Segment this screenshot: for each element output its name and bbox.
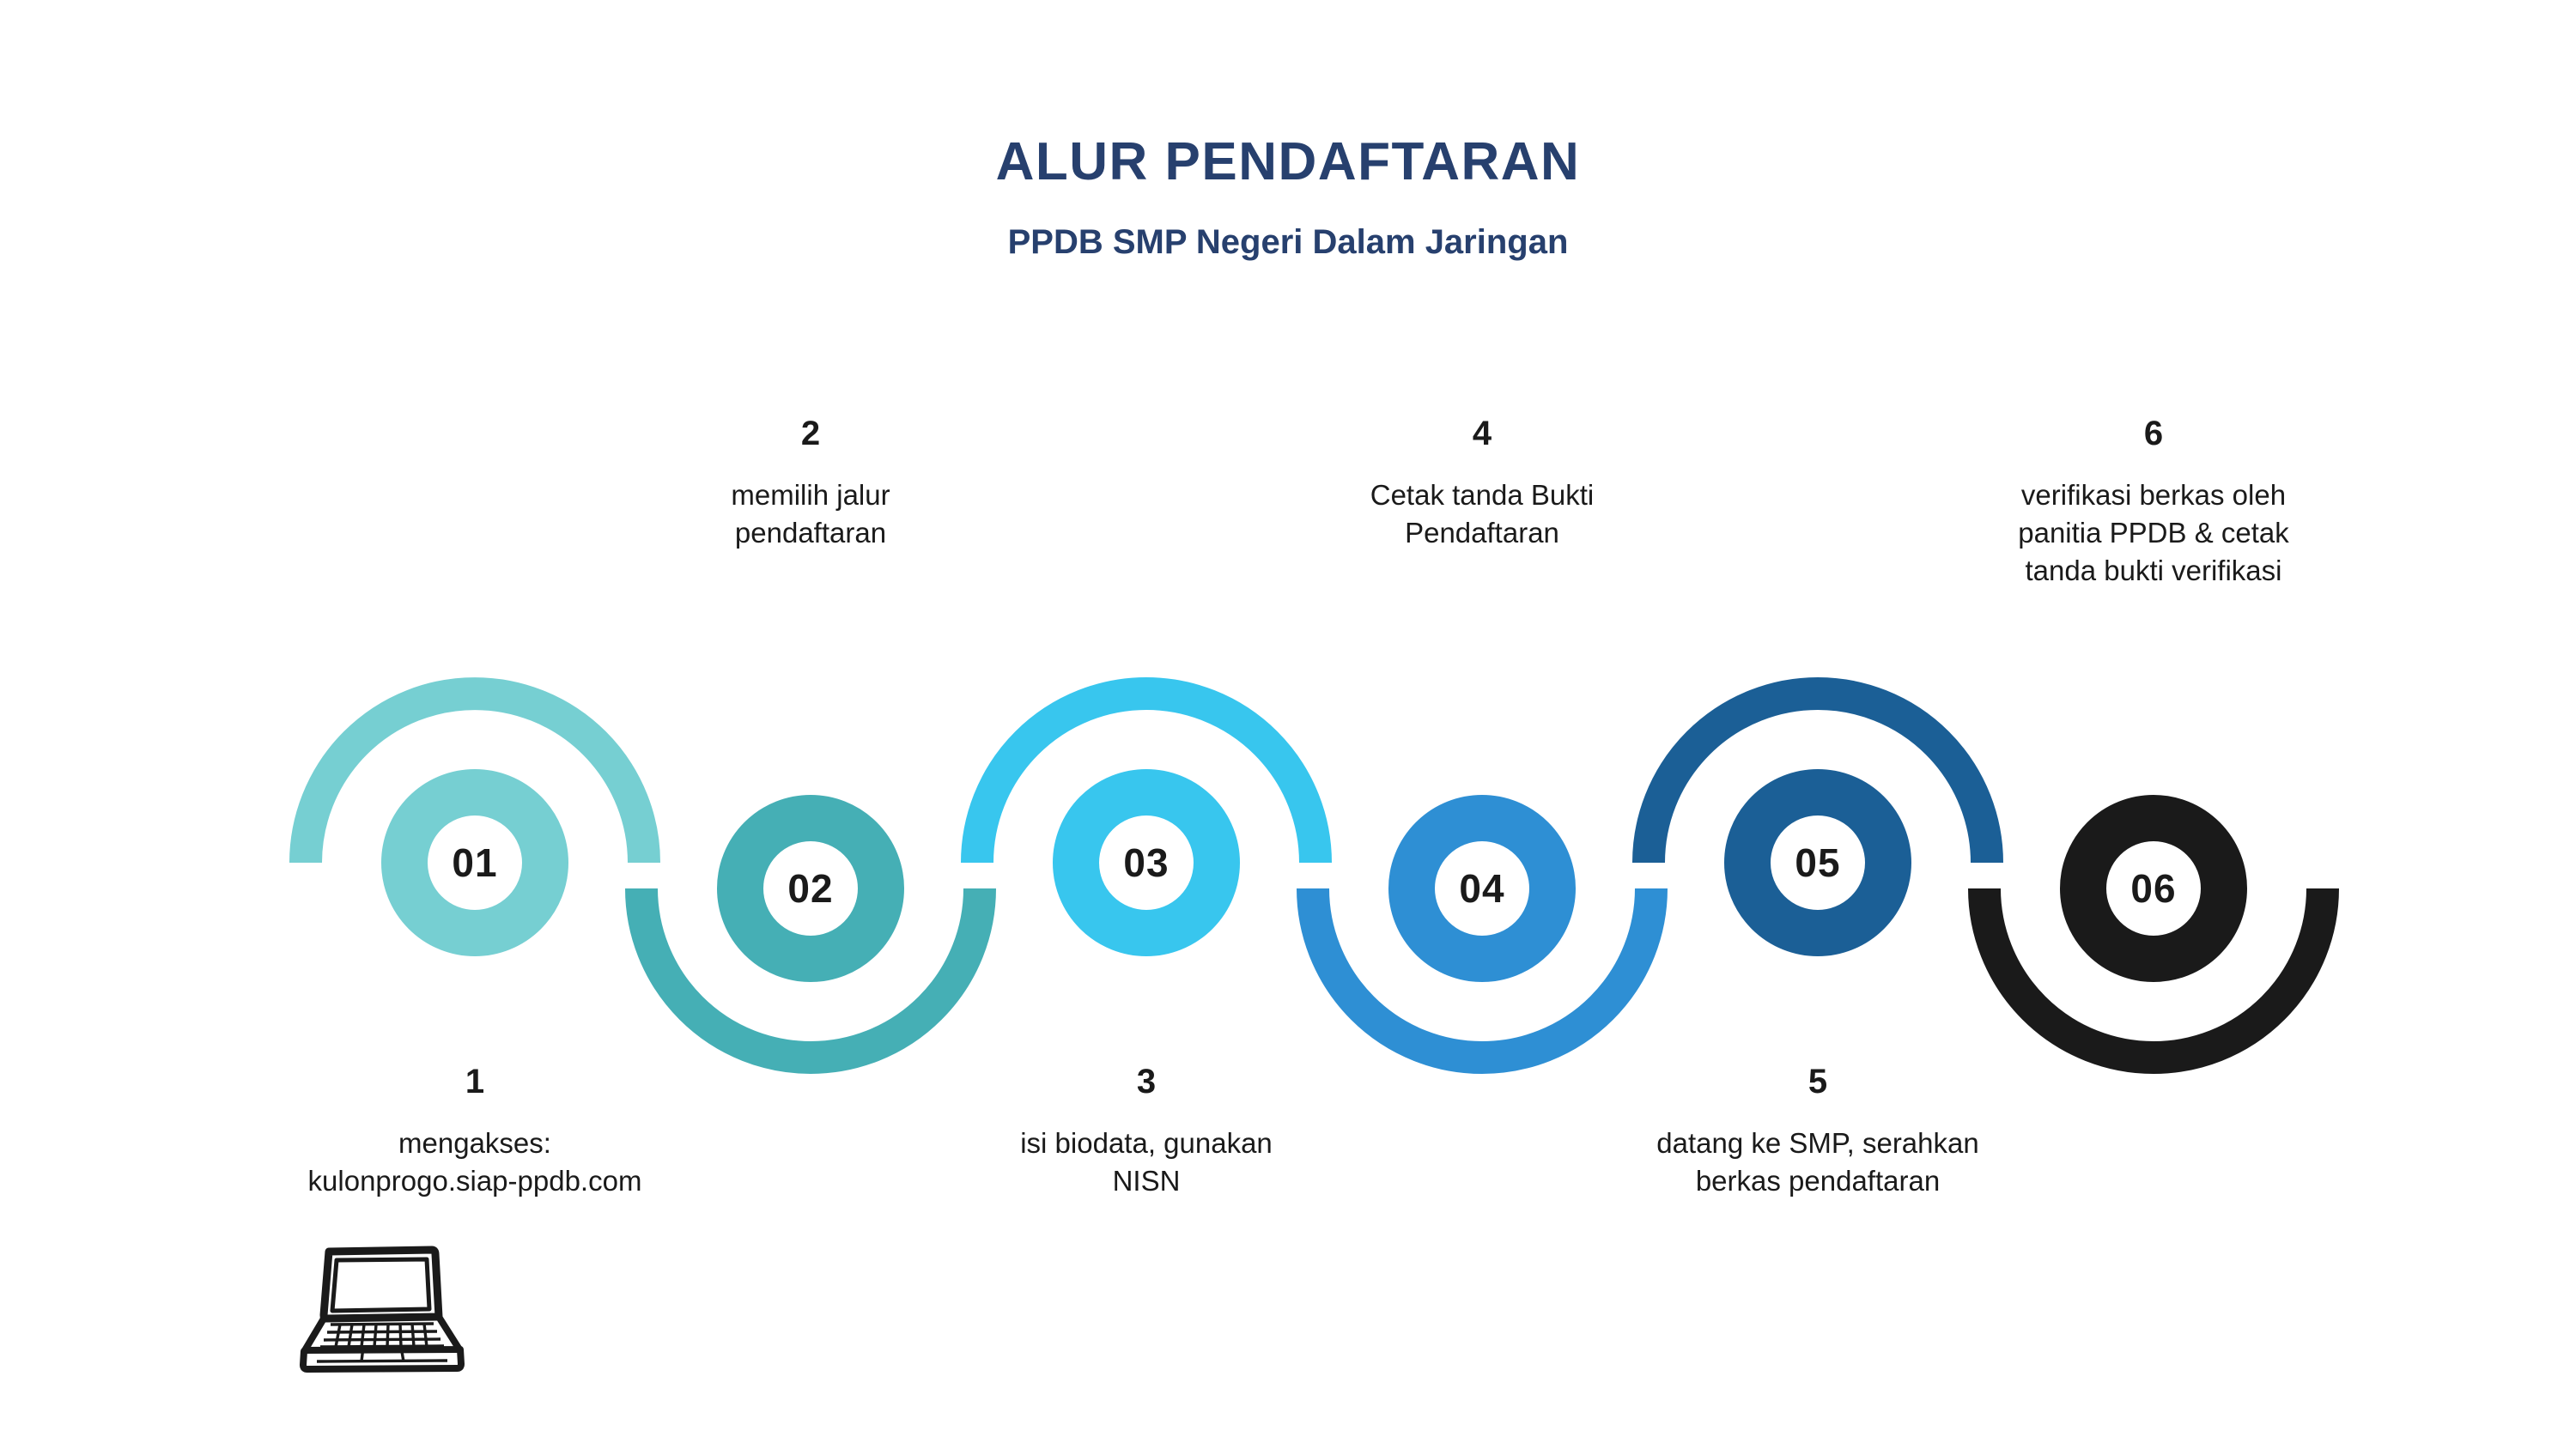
step-callout-text: isi biodata, gunakan NISN [945, 1125, 1348, 1200]
step-callout-number: 4 [1280, 416, 1684, 451]
step-callout: 4Cetak tanda Bukti Pendaftaran [1280, 416, 1684, 552]
step-ring-number: 06 [2130, 865, 2176, 912]
step-callout-text: verifikasi berkas oleh panitia PPDB & ce… [1952, 476, 2355, 590]
step-callout-number: 6 [1952, 416, 2355, 451]
step-callout: 5datang ke SMP, serahkan berkas pendafta… [1616, 1064, 2020, 1200]
step-ring-number: 03 [1123, 840, 1169, 886]
laptop-icon [291, 1243, 485, 1385]
step-callout: 6verifikasi berkas oleh panitia PPDB & c… [1952, 416, 2355, 590]
step-ring-number: 01 [452, 840, 497, 886]
step-ring-number: 04 [1459, 865, 1504, 912]
step-ring-number: 05 [1795, 840, 1840, 886]
step-callout-number: 5 [1616, 1064, 2020, 1099]
step-callout-text: Cetak tanda Bukti Pendaftaran [1280, 476, 1684, 552]
step-ring-number: 02 [787, 865, 833, 912]
step-callout: 2memilih jalur pendaftaran [609, 416, 1012, 552]
step-callout-text: memilih jalur pendaftaran [609, 476, 1012, 552]
process-flow-diagram [0, 0, 2576, 1449]
step-callout-text: mengakses: kulonprogo.siap-ppdb.com [273, 1125, 677, 1200]
step-callout: 1mengakses: kulonprogo.siap-ppdb.com [273, 1064, 677, 1200]
step-callout: 3isi biodata, gunakan NISN [945, 1064, 1348, 1200]
step-callout-number: 3 [945, 1064, 1348, 1099]
step-callout-number: 2 [609, 416, 1012, 451]
flow-svg [0, 0, 2576, 1449]
connector-arc-layer [306, 694, 2323, 1058]
step-callout-text: datang ke SMP, serahkan berkas pendaftar… [1616, 1125, 2020, 1200]
step-callout-number: 1 [273, 1064, 677, 1099]
